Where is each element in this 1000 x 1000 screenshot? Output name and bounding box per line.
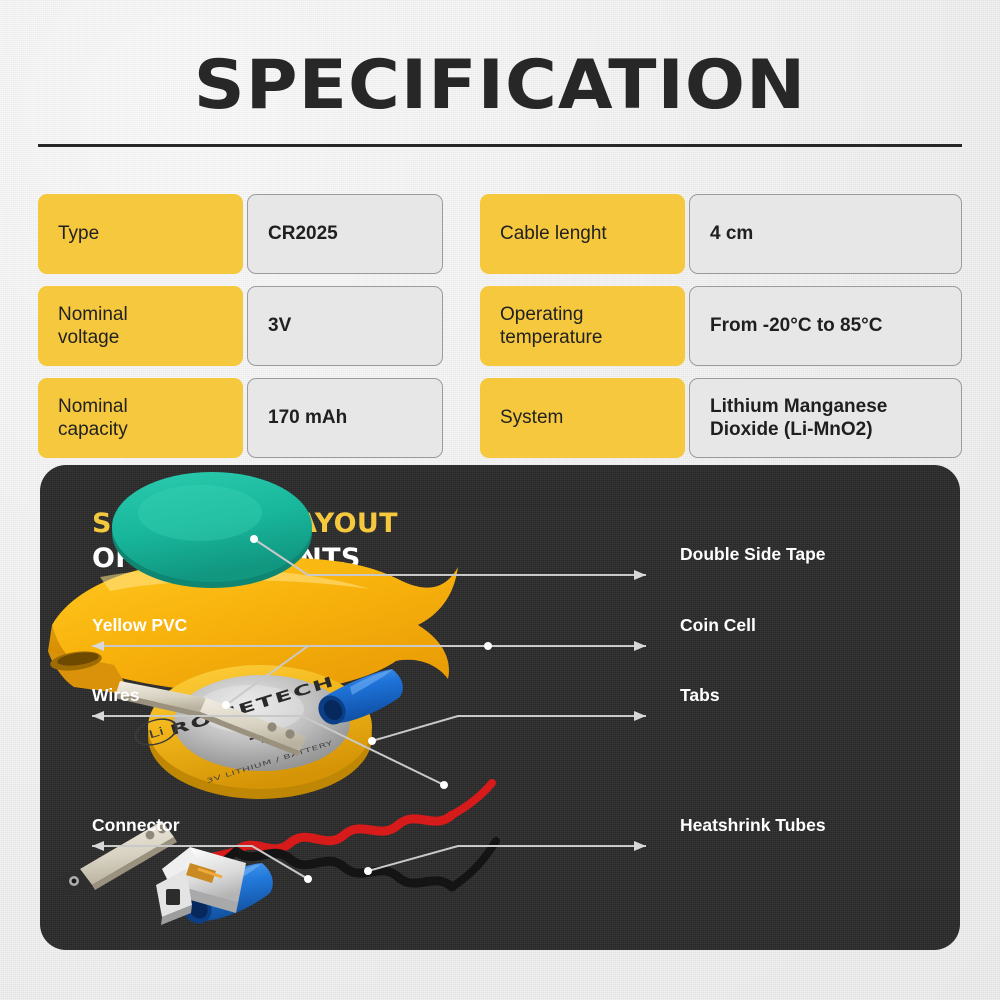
page-title: SPECIFICATION	[0, 46, 1000, 125]
spec-key-type: Type	[38, 194, 243, 274]
spec-value-type: CR2025	[247, 194, 443, 274]
label-tabs: Tabs	[680, 685, 720, 706]
label-wires: Wires	[92, 685, 140, 706]
spec-value-operating-temperature: From -20°C to 85°C	[689, 286, 962, 366]
leader-line-coin-cell	[226, 646, 646, 705]
spec-value-cable-length: 4 cm	[689, 194, 962, 274]
leader-line-connector	[92, 846, 308, 879]
leader-line-wires	[92, 716, 444, 785]
title-divider	[38, 144, 962, 147]
leader-anchor-dots	[222, 535, 492, 883]
spec-key-operating-temperature: Operatingtemperature	[480, 286, 685, 366]
label-double-side-tape: Double Side Tape	[680, 544, 826, 565]
label-heatshrink-tubes: Heatshrink Tubes	[680, 815, 826, 836]
label-coin-cell: Coin Cell	[680, 615, 756, 636]
leader-line-heatshrink-tubes	[368, 846, 646, 871]
label-connector: Connector	[92, 815, 180, 836]
leader-lines	[40, 465, 960, 950]
spec-value-nominal-capacity: 170 mAh	[247, 378, 443, 458]
spec-value-system: Lithium ManganeseDioxide (Li-MnO2)	[689, 378, 962, 458]
spec-key-nominal-capacity: Nominalcapacity	[38, 378, 243, 458]
grid-gutter	[443, 286, 480, 366]
leader-arrowheads	[92, 570, 646, 851]
leader-line-double-side-tape	[254, 539, 646, 575]
grid-gutter	[443, 194, 480, 274]
spec-key-system: System	[480, 378, 685, 458]
grid-gutter	[443, 378, 480, 458]
specification-table: Type CR2025 Cable lenght 4 cm Nominalvol…	[38, 194, 962, 458]
label-yellow-pvc: Yellow PVC	[92, 615, 187, 636]
spec-key-nominal-voltage: Nominalvoltage	[38, 286, 243, 366]
spec-key-cable-length: Cable lenght	[480, 194, 685, 274]
spec-value-nominal-voltage: 3V	[247, 286, 443, 366]
schematic-panel: SCHEMATIC LAYOUT OF COMPONENTS	[40, 465, 960, 950]
leader-line-tabs	[372, 716, 646, 741]
